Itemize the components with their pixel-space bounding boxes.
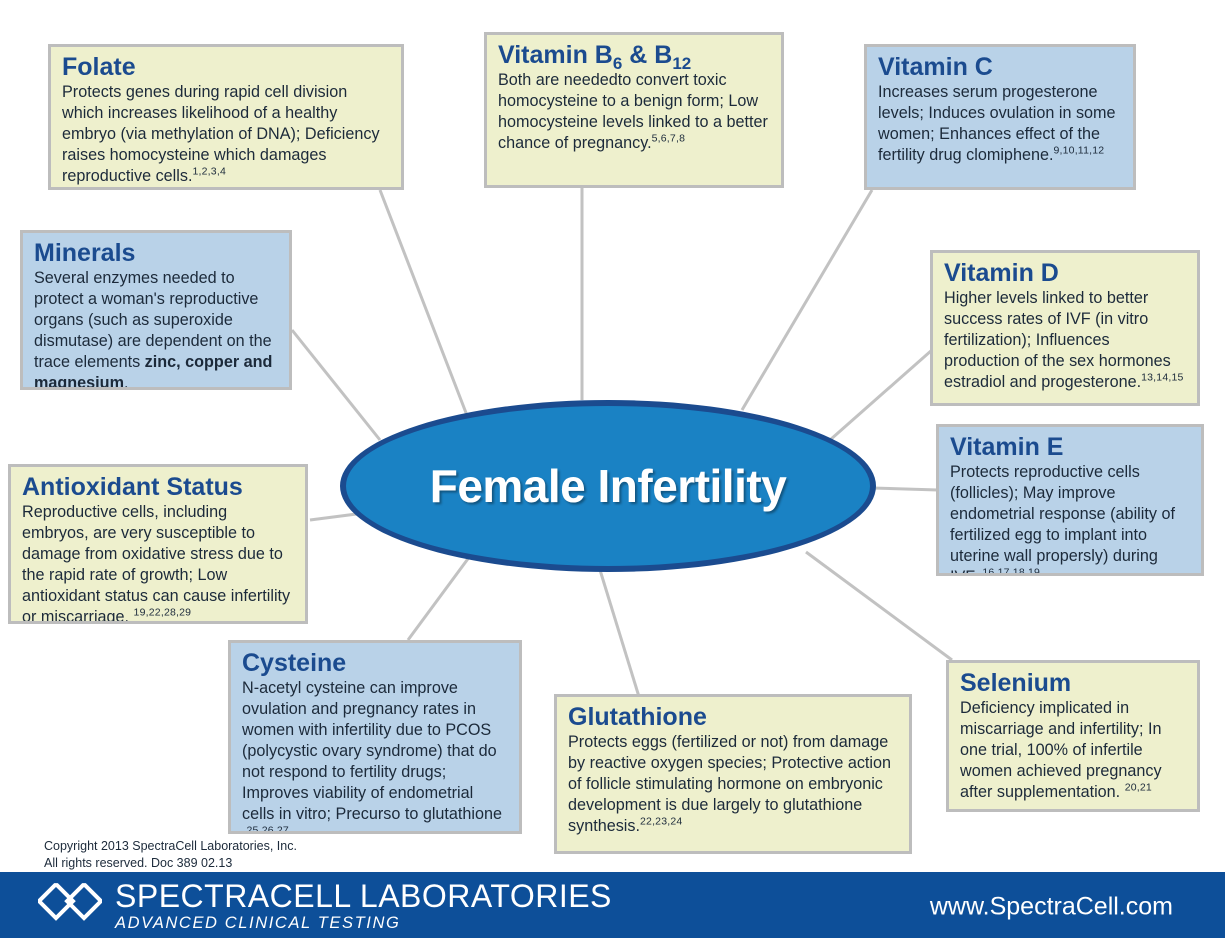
interlocking-diamonds-logo — [38, 883, 102, 931]
connector-vitamin-d — [830, 350, 932, 440]
node-vitamin-b6-b12-title: Vitamin B6 & B12 — [498, 42, 770, 69]
node-folate-body: Protects genes during rapid cell divisio… — [62, 82, 390, 187]
infographic-poster: Female Infertility Folate Protects genes… — [0, 0, 1225, 938]
node-minerals-title: Minerals — [34, 240, 278, 267]
node-antioxidant-status-title: Antioxidant Status — [22, 474, 294, 501]
node-glutathione-title: Glutathione — [568, 704, 898, 731]
node-selenium-title: Selenium — [960, 670, 1186, 697]
node-cysteine[interactable]: Cysteine N-acetyl cysteine can improve o… — [228, 640, 522, 834]
node-minerals-body: Several enzymes needed to protect a woma… — [34, 268, 278, 390]
node-vitamin-d-body: Higher levels linked to better success r… — [944, 288, 1186, 393]
footer-bar: SPECTRACELL LABORATORIES ADVANCED CLINIC… — [0, 876, 1225, 938]
subscript-6: 6 — [613, 54, 622, 73]
node-vitamin-c-title: Vitamin C — [878, 54, 1122, 81]
node-folate-refs: 1,2,3,4 — [192, 166, 226, 178]
node-vitamin-b6-b12-refs: 5,6,7,8 — [652, 133, 686, 145]
center-node: Female Infertility — [340, 400, 876, 572]
connector-folate — [380, 190, 468, 418]
node-vitamin-e[interactable]: Vitamin E Protects reproductive cells (f… — [936, 424, 1204, 576]
node-vitamin-d-title: Vitamin D — [944, 260, 1186, 287]
connector-vitamin-c — [742, 190, 872, 410]
connector-glutathione — [600, 570, 640, 700]
node-antioxidant-status-body: Reproductive cells, including embryos, a… — [22, 502, 294, 624]
connector-minerals — [292, 330, 380, 440]
subscript-12: 12 — [672, 54, 691, 73]
connector-selenium — [806, 552, 952, 660]
node-selenium[interactable]: Selenium Deficiency implicated in miscar… — [946, 660, 1200, 812]
node-minerals[interactable]: Minerals Several enzymes needed to prote… — [20, 230, 292, 390]
brand-text: SPECTRACELL LABORATORIES ADVANCED CLINIC… — [115, 880, 612, 934]
copyright-text: Copyright 2013 SpectraCell Laboratories,… — [44, 838, 374, 872]
node-vitamin-e-body: Protects reproductive cells (follicles);… — [950, 462, 1190, 576]
node-antioxidant-status[interactable]: Antioxidant Status Reproductive cells, i… — [8, 464, 308, 624]
node-vitamin-d-refs: 13,14,15 — [1141, 372, 1183, 384]
node-cysteine-body: N-acetyl cysteine can improve ovulation … — [242, 678, 508, 834]
node-vitamin-c-body: Increases serum progesterone levels; Ind… — [878, 82, 1122, 166]
node-vitamin-b6-b12[interactable]: Vitamin B6 & B12 Both are neededto conve… — [484, 32, 784, 188]
node-cysteine-refs: 25,26,27 — [247, 825, 289, 834]
node-selenium-body: Deficiency implicated in miscarriage and… — [960, 698, 1186, 803]
node-vitamin-e-refs: 16,17,18,19 — [982, 567, 1040, 576]
brand-lockup: SPECTRACELL LABORATORIES ADVANCED CLINIC… — [38, 880, 612, 934]
node-vitamin-e-title: Vitamin E — [950, 434, 1190, 461]
brand-tagline: ADVANCED CLINICAL TESTING — [115, 914, 612, 934]
website-url[interactable]: www.SpectraCell.com — [930, 893, 1173, 922]
center-node-label: Female Infertility — [430, 459, 787, 513]
node-vitamin-c[interactable]: Vitamin C Increases serum progesterone l… — [864, 44, 1136, 190]
node-vitamin-b6-b12-body: Both are neededto convert toxic homocyst… — [498, 70, 770, 154]
node-selenium-refs: 20,21 — [1125, 782, 1152, 794]
node-vitamin-d[interactable]: Vitamin D Higher levels linked to better… — [930, 250, 1200, 406]
node-folate-title: Folate — [62, 54, 390, 81]
connector-vitamin-e — [872, 488, 938, 490]
node-antioxidant-status-refs: 19,22,28,29 — [134, 607, 192, 619]
node-vitamin-c-refs: 9,10,11,12 — [1053, 145, 1104, 157]
node-folate[interactable]: Folate Protects genes during rapid cell … — [48, 44, 404, 190]
connector-cysteine — [408, 556, 470, 640]
node-glutathione[interactable]: Glutathione Protects eggs (fertilized or… — [554, 694, 912, 854]
node-glutathione-body: Protects eggs (fertilized or not) from d… — [568, 732, 898, 837]
node-glutathione-refs: 22,23,24 — [640, 816, 682, 828]
brand-name: SPECTRACELL LABORATORIES — [115, 880, 612, 912]
node-cysteine-title: Cysteine — [242, 650, 508, 677]
